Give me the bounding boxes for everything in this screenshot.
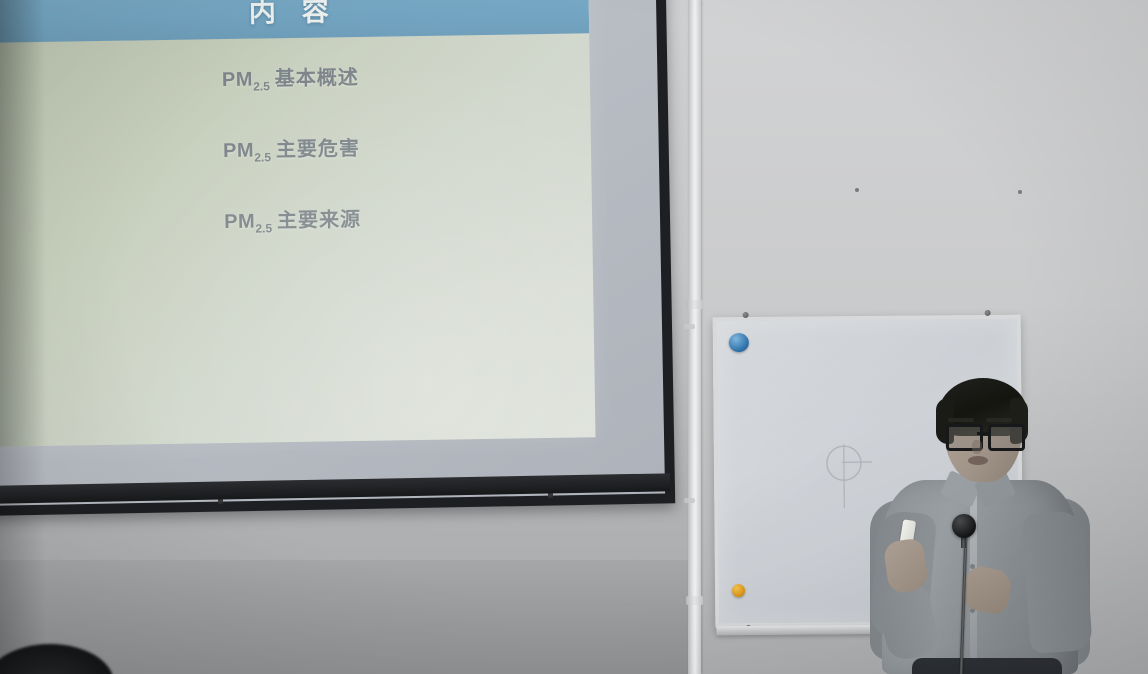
- microphone-head: [952, 514, 976, 538]
- wall-nail-left: [855, 188, 859, 192]
- bullet-3-prefix: PM: [224, 211, 256, 233]
- bullet-2-text: 主要危害: [276, 138, 360, 161]
- whiteboard-screw-right: [985, 310, 991, 316]
- slide-bullet-list: PM2.5基本概述 PM2.5主要危害 PM2.5主要来源: [222, 61, 362, 276]
- presenter-arm-right: [1021, 510, 1093, 654]
- projected-slide: 内 容 PM2.5基本概述 PM2.5主要危害 PM2.5主要来源: [0, 0, 596, 447]
- bullet-1-text: 基本概述: [275, 67, 359, 90]
- presenter-eyebrow-left: [948, 418, 974, 422]
- bullet-1-prefix: PM: [222, 69, 254, 91]
- bullet-3-subscript: 2.5: [255, 221, 272, 235]
- presenter-mouth: [968, 456, 988, 465]
- presenter: [860, 372, 1100, 674]
- blue-magnet-icon: [729, 333, 749, 352]
- presenter-eyebrow-right: [986, 418, 1012, 422]
- pipe-joint-upper: [686, 300, 703, 309]
- glasses-lens-right: [988, 424, 1025, 451]
- glasses-bridge: [977, 432, 988, 435]
- presenter-nose: [972, 440, 982, 454]
- bullet-2-subscript: 2.5: [254, 150, 271, 164]
- slide-bullet-3: PM2.5主要来源: [224, 203, 361, 236]
- bullet-1-subscript: 2.5: [253, 79, 270, 93]
- presenter-trousers: [912, 658, 1062, 674]
- orange-magnet-icon: [732, 584, 745, 597]
- wall-nail-right: [1018, 190, 1022, 194]
- lecture-scene: 内 容 PM2.5基本概述 PM2.5主要危害 PM2.5主要来源: [0, 0, 1148, 674]
- wall-lower-shade: [0, 560, 700, 674]
- pipe-clip-lower: [684, 498, 695, 503]
- glasses-icon: [946, 424, 1022, 446]
- whiteboard-screw-left: [743, 312, 749, 318]
- slide-bullet-1: PM2.5基本概述: [222, 61, 359, 94]
- pipe-clip-upper: [684, 324, 695, 329]
- bullet-3-text: 主要来源: [277, 209, 361, 232]
- slide-bullet-2: PM2.5主要危害: [223, 132, 360, 165]
- bullet-2-prefix: PM: [223, 140, 255, 162]
- wall-conduit-pipe: [688, 0, 701, 674]
- pipe-joint-lower: [686, 596, 703, 605]
